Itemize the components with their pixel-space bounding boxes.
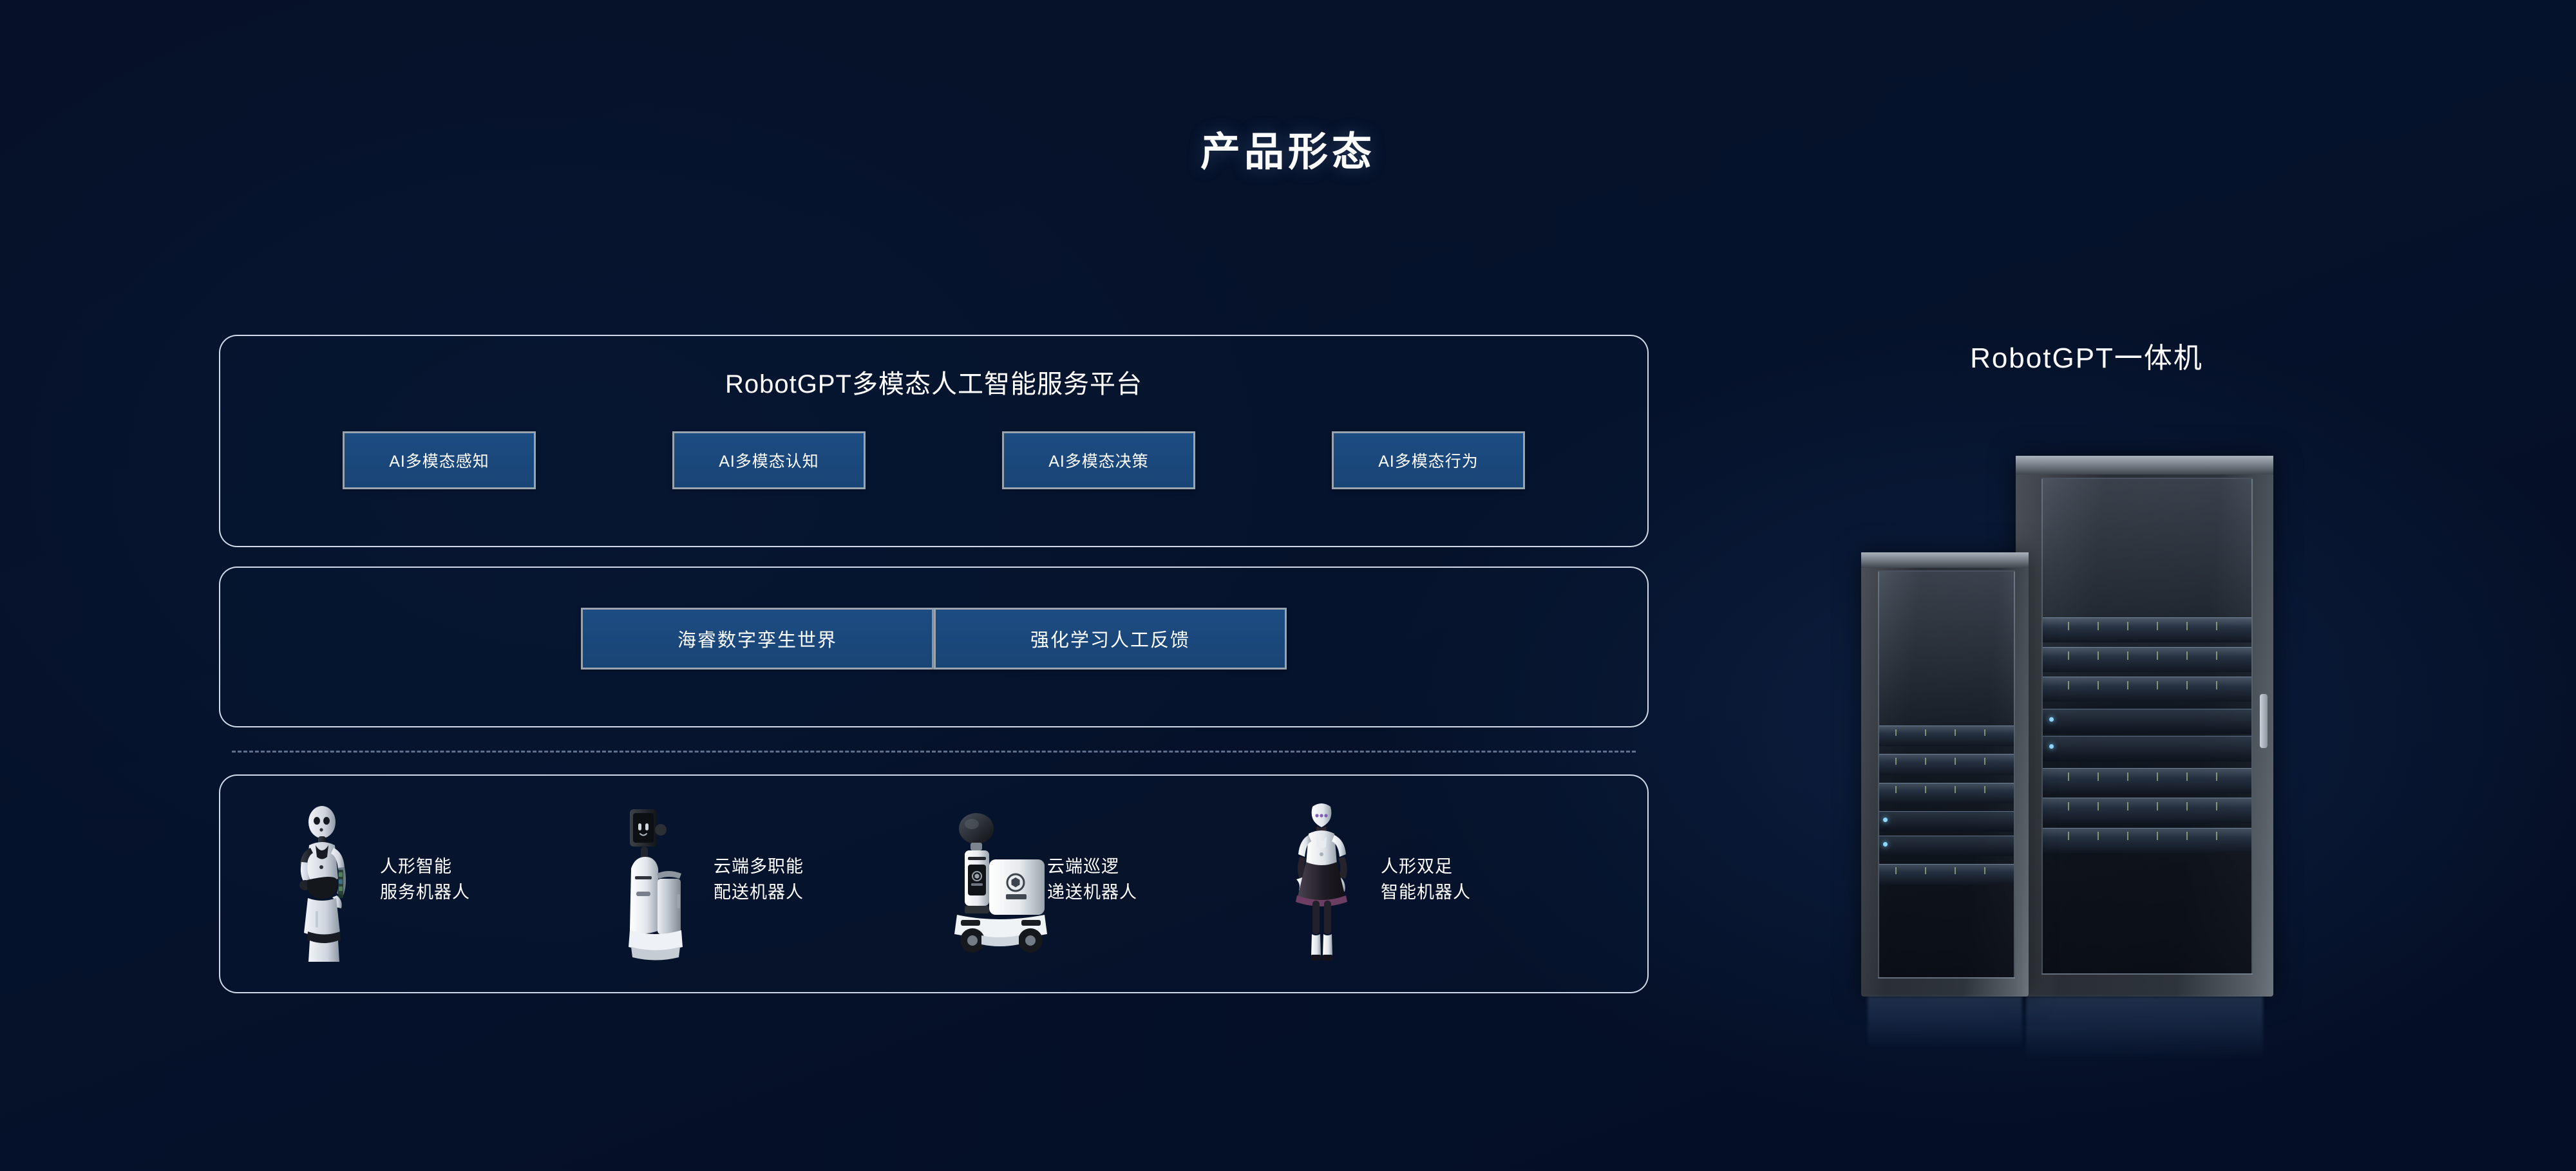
server-rack-icon [1855,417,2318,1061]
rack-blade [2043,736,2251,761]
engine-bar-rlhf[interactable]: 强化学习人工反馈 [934,608,1287,670]
capability-chip-behavior[interactable]: AI多模态行为 [1332,431,1525,489]
robot-item-humanoid-biped[interactable]: 人形双足 智能机器人 [1276,798,1592,962]
capability-chip-perception[interactable]: AI多模态感知 [343,431,536,489]
capability-chip-cognition[interactable]: AI多模态认知 [672,431,866,489]
chip-label: AI多模态感知 [389,449,489,472]
rack-blade [1879,864,2014,885]
right-column: RobotGPT一体机 [1855,335,2318,1061]
rack-top-cap [1861,552,2029,568]
rack-blade [2043,828,2251,853]
humanoid-biped-robot-icon [1276,798,1367,962]
robot-label: 云端多职能 配送机器人 [714,854,804,906]
rack-blade [2043,768,2251,793]
rack-glass-door [1878,570,2015,979]
chip-label: AI多模态行为 [1378,449,1479,472]
robot-item-humanoid-service[interactable]: 人形智能 服务机器人 [276,798,591,962]
rack-blade [1879,783,2014,803]
engine-bar-digital-twin[interactable]: 海睿数字孪生世界 [581,608,934,670]
rack-reflection [1868,997,2022,1059]
engine-bar-row: 海睿数字孪生世界 强化学习人工反馈 [220,568,1647,670]
robot-item-cloud-delivery[interactable]: 云端多职能 配送机器人 [609,798,925,962]
platform-card-title: RobotGPT多模态人工智能服务平台 [220,336,1647,400]
chip-label: AI多模态认知 [719,449,819,472]
left-column: RobotGPT多模态人工智能服务平台 AI多模态感知 AI多模态认知 AI多模… [219,335,1649,993]
robot-label: 人形双足 智能机器人 [1381,854,1471,906]
bar-label: 强化学习人工反馈 [1030,625,1190,652]
server-rack-front [1861,552,2029,997]
rack-glass-door [2041,478,2253,975]
rack-top-cap [2016,456,2273,474]
rack-blade [1879,754,2014,774]
rack-blade [2043,677,2251,702]
robot-label: 人形智能 服务机器人 [380,854,470,906]
rack-blade [2043,709,2251,734]
capability-chip-row: AI多模态感知 AI多模态认知 AI多模态决策 AI多模态行为 [220,400,1647,489]
cloud-delivery-robot-icon [609,798,699,962]
rack-blade [2043,798,2251,823]
bar-label: 海睿数字孪生世界 [677,625,837,652]
chip-label: AI多模态决策 [1048,449,1149,472]
robots-card: 人形智能 服务机器人 [219,774,1649,993]
rack-blade [1879,836,2014,856]
capability-chip-decision[interactable]: AI多模态决策 [1002,431,1195,489]
rack-blade [2043,647,2251,672]
slide-canvas: 产品形态 RobotGPT多模态人工智能服务平台 AI多模态感知 AI多模态认知… [0,0,2576,1171]
server-rack-back [2016,456,2273,997]
platform-card: RobotGPT多模态人工智能服务平台 AI多模态感知 AI多模态认知 AI多模… [219,335,1649,547]
engine-card: 海睿数字孪生世界 强化学习人工反馈 [219,567,1649,727]
humanoid-service-robot-icon [276,798,366,962]
rack-blade [1879,726,2014,746]
rack-reflection [2026,997,2263,1073]
rack-blade [2043,617,2251,642]
cloud-patrol-robot-icon [943,798,1033,962]
page-title: 产品形态 [0,119,2576,177]
section-divider [232,751,1636,753]
robot-label: 云端巡逻 递送机器人 [1047,854,1137,906]
rack-blade [1879,811,2014,832]
appliance-title: RobotGPT一体机 [1855,335,2318,376]
rack-door-handle[interactable] [2260,694,2268,748]
robot-item-cloud-patrol[interactable]: 云端巡逻 递送机器人 [943,798,1258,962]
robot-row: 人形智能 服务机器人 [220,776,1647,962]
